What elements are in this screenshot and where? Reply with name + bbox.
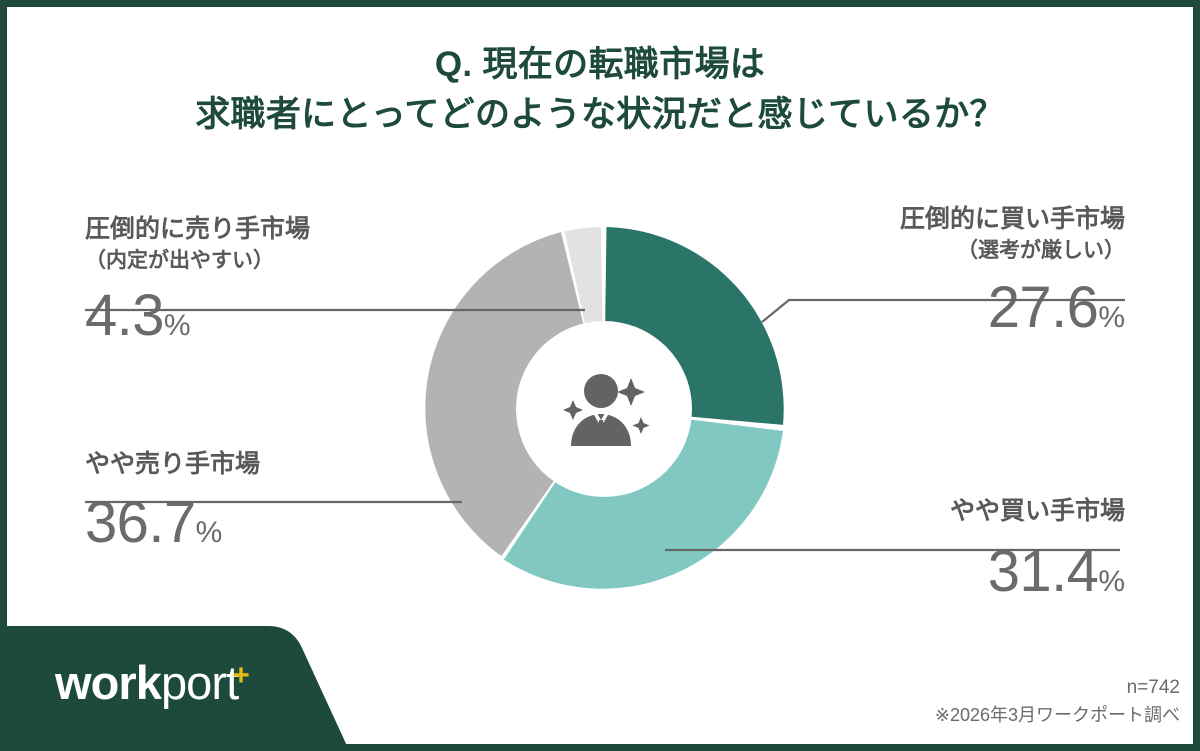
logo-plus-icon: + <box>232 659 249 692</box>
infographic-canvas: Q. 現在の転職市場は 求職者にとってどのような状況だと感じているか？ <box>0 0 1200 751</box>
callout-label: 圧倒的に買い手市場 <box>600 203 1125 237</box>
title-line-1: Q. 現在の転職市場は <box>0 40 1200 90</box>
percent-symbol: % <box>1098 565 1125 598</box>
sample-size: n=742 <box>935 674 1180 703</box>
callout-value-number: 27.6 <box>988 275 1099 340</box>
logo-text-thin: por <box>161 656 226 709</box>
callout-label: やや買い手市場 <box>600 495 1125 529</box>
title-line-2: 求職者にとってどのような状況だと感じているか？ <box>0 90 1200 140</box>
callout-label: やや売り手市場 <box>85 448 465 482</box>
callout-label: 圧倒的に売り手市場 <box>85 213 585 247</box>
logo-text-bold: work <box>55 656 161 709</box>
callout-value-number: 31.4 <box>988 539 1099 604</box>
businessperson-sparkle-icon <box>549 364 659 454</box>
callout-value: 4.3% <box>85 287 585 345</box>
callout-sublabel: （内定が出やすい） <box>85 247 585 275</box>
percent-symbol: % <box>164 309 191 342</box>
footer-notes: n=742 ※2026年3月ワークポート調べ <box>935 674 1180 730</box>
donut-center-hole <box>516 321 692 497</box>
callout-value: 27.6% <box>600 279 1125 337</box>
percent-symbol: % <box>1098 301 1125 334</box>
callout-value: 31.4% <box>600 543 1125 601</box>
callout-sublabel: （選考が厳しい） <box>600 237 1125 265</box>
callout-yaya-urite: やや売り手市場 36.7% <box>85 448 465 552</box>
callout-atoteki-kaite: 圧倒的に買い手市場 （選考が厳しい） 27.6% <box>600 203 1125 337</box>
source-note: ※2026年3月ワークポート調べ <box>935 702 1180 729</box>
callout-yaya-kaite: やや買い手市場 31.4% <box>600 495 1125 601</box>
page-title: Q. 現在の転職市場は 求職者にとってどのような状況だと感じているか？ <box>0 40 1200 139</box>
workport-logo: workport+ <box>55 659 255 706</box>
callout-value-number: 4.3 <box>85 283 164 348</box>
callout-value-number: 36.7 <box>85 490 196 555</box>
percent-symbol: % <box>196 516 223 549</box>
callout-value: 36.7% <box>85 494 465 552</box>
callout-atoteki-urite: 圧倒的に売り手市場 （内定が出やすい） 4.3% <box>85 213 585 345</box>
